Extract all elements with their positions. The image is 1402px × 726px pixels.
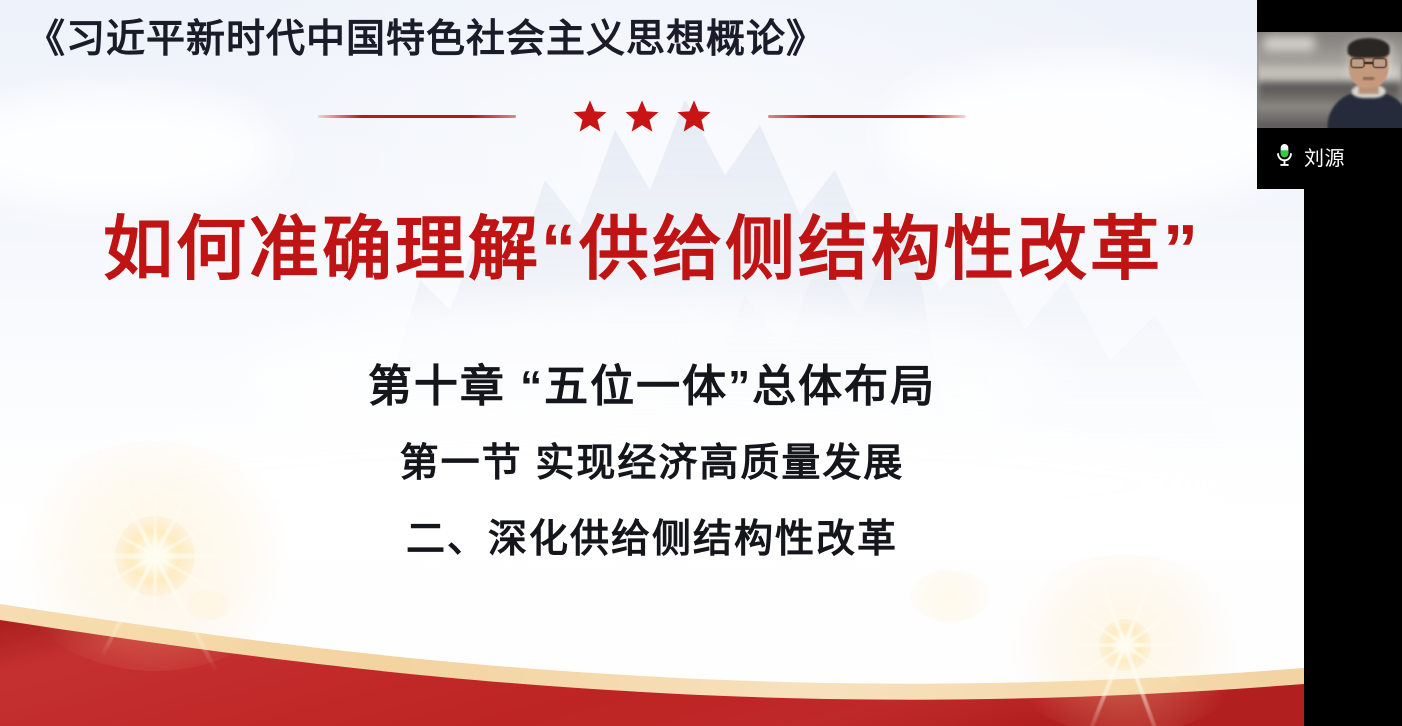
- participant-name: 刘源: [1304, 142, 1345, 171]
- divider-line-left: [318, 115, 516, 118]
- red-star-icon: [676, 98, 712, 134]
- meeting-screen-share-view: 《习近平新时代中国特色社会主义思想概论》 如何准确理解“供给侧结构性改革” 第十…: [0, 0, 1402, 726]
- slide-main-heading: 如何准确理解“供给侧结构性改革”: [0, 212, 1304, 288]
- slide-subtitle-chapter: 第十章 “五位一体”总体布局: [0, 350, 1304, 414]
- slide-subtitle-section: 第一节 实现经济高质量发展: [0, 432, 1304, 488]
- divider-line-right: [768, 115, 966, 118]
- lens-flare-ghost: [910, 570, 1000, 630]
- course-title: 《习近平新时代中国特色社会主义思想概论》: [26, 8, 826, 64]
- webcam-ceiling-light: [1263, 36, 1315, 51]
- star-divider: [318, 96, 966, 136]
- eyeglasses: [1350, 58, 1386, 68]
- slide-subtitle-topic: 二、深化供给侧结构性改革: [0, 508, 1304, 564]
- lens-flare-ghost: [185, 590, 245, 630]
- cloud-wisp: [0, 90, 280, 210]
- participant-webcam-feed[interactable]: [1257, 32, 1402, 128]
- red-star-icon: [572, 98, 608, 134]
- presentation-slide[interactable]: 《习近平新时代中国特色社会主义思想概论》 如何准确理解“供给侧结构性改革” 第十…: [0, 0, 1304, 726]
- microphone-icon[interactable]: [1274, 143, 1295, 169]
- star-group: [560, 98, 724, 134]
- participant-figure: [1326, 48, 1402, 128]
- red-star-icon: [624, 98, 660, 134]
- participant-video-tile[interactable]: 刘源: [1257, 0, 1402, 189]
- participant-name-row: 刘源: [1257, 134, 1402, 178]
